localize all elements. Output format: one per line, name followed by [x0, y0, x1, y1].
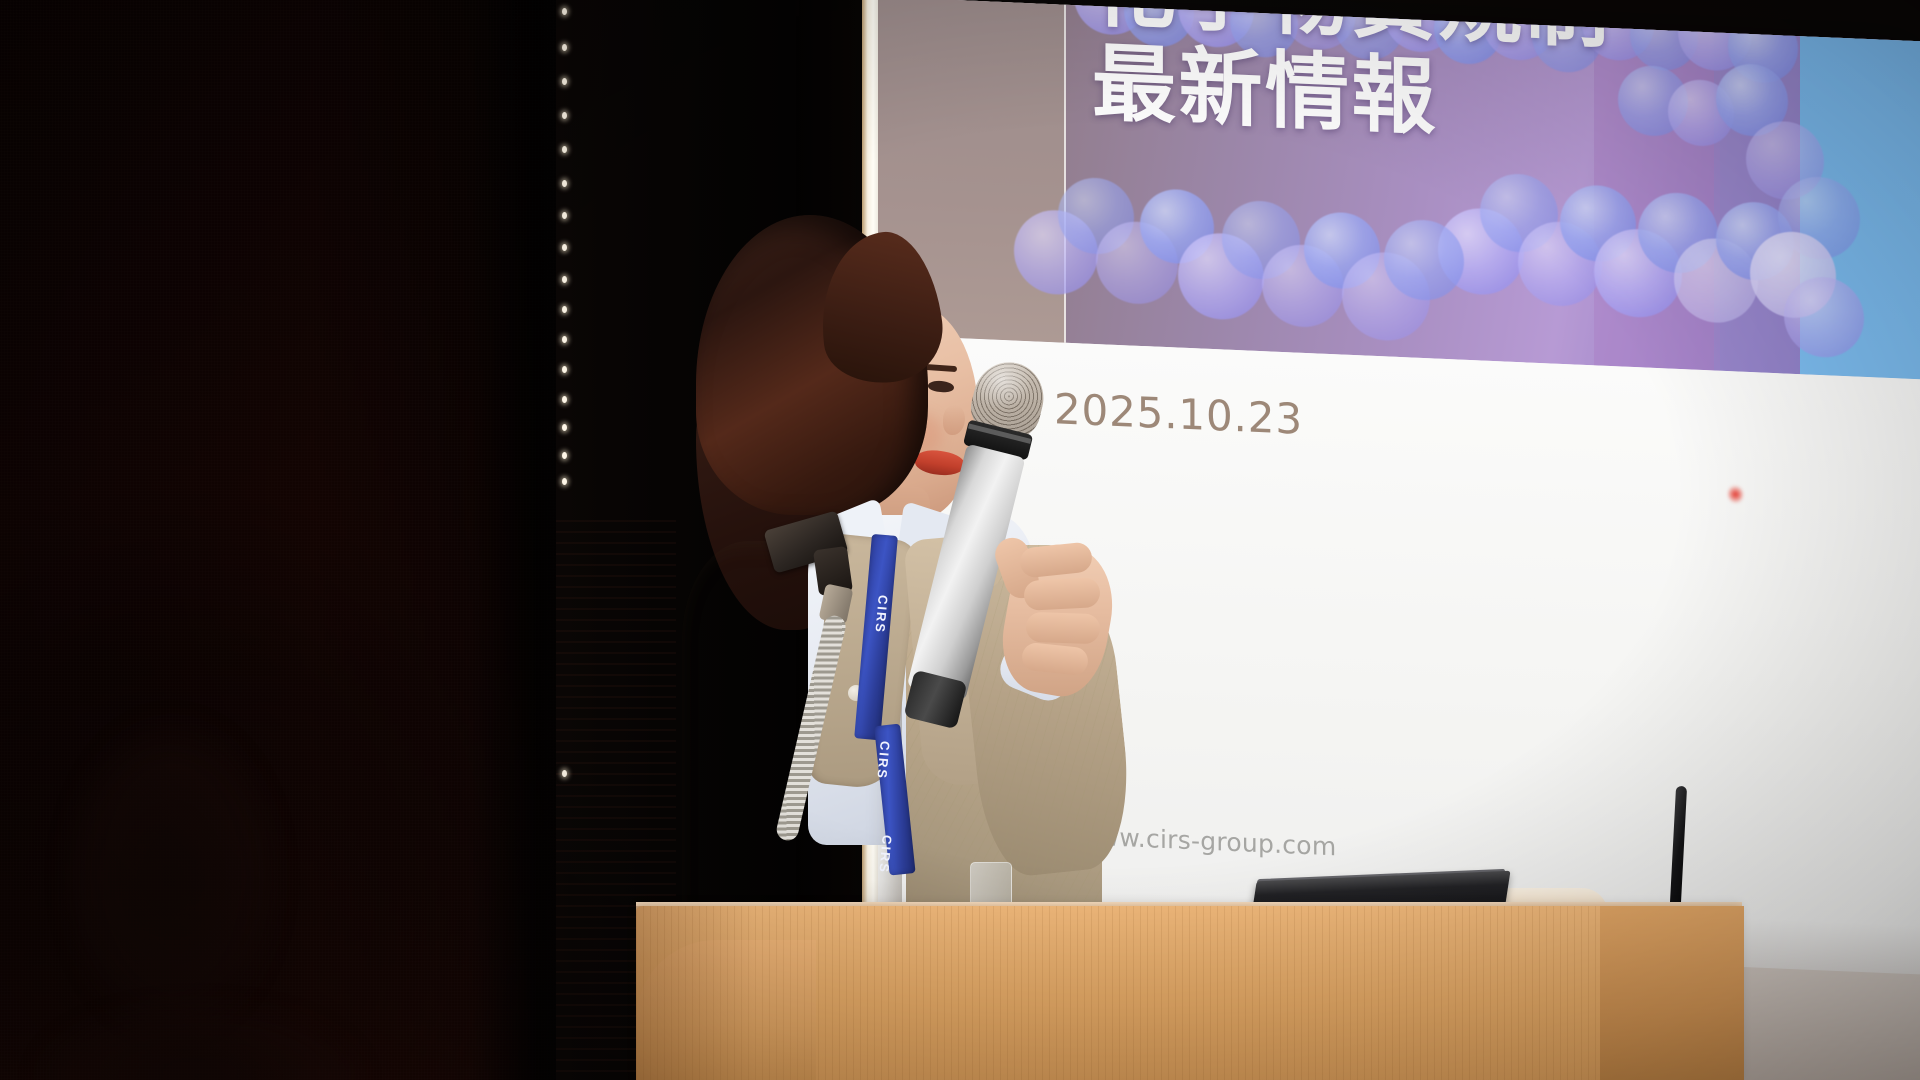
- finger: [1025, 612, 1100, 645]
- accent-light-dot: [562, 366, 567, 373]
- accent-light-dot: [562, 306, 567, 313]
- podium-right-face: [1600, 906, 1744, 1080]
- accent-light-dot: [562, 336, 567, 343]
- accent-light-dot: [562, 146, 567, 153]
- accent-light-dot: [562, 276, 567, 283]
- accent-light-dot: [562, 244, 567, 251]
- vertical-dotted-accent-lights: [560, 0, 572, 1080]
- accent-light-dot: [562, 212, 567, 219]
- accent-light-dot: [562, 452, 567, 459]
- laser-pointer-dot: [1728, 485, 1743, 504]
- slide-title-line-2: 最新情報: [1092, 36, 1812, 161]
- podium-left-shadow: [636, 906, 756, 1080]
- accent-light-dot: [562, 112, 567, 119]
- conference-photo-stage: 化学物質規制 最新情報 2025.10.23 www.cirs-group.co…: [0, 0, 1920, 1080]
- silhouette-shoulders-shadow: [0, 980, 410, 1080]
- accent-light-dot: [562, 424, 567, 431]
- slide-title: 化学物質規制 最新情報: [1092, 0, 1812, 161]
- accent-light-dot: [562, 44, 567, 51]
- accent-light-dot: [562, 78, 567, 85]
- accent-light-dot: [562, 396, 567, 403]
- accent-light-dot: [562, 8, 567, 15]
- accent-light-dot: [562, 180, 567, 187]
- gooseneck-flexible-neck: [775, 614, 848, 843]
- accent-light-dot: [562, 478, 567, 485]
- podium-gooseneck-microphone: [760, 520, 900, 880]
- accent-light-dot: [562, 770, 567, 777]
- finger: [1023, 577, 1100, 611]
